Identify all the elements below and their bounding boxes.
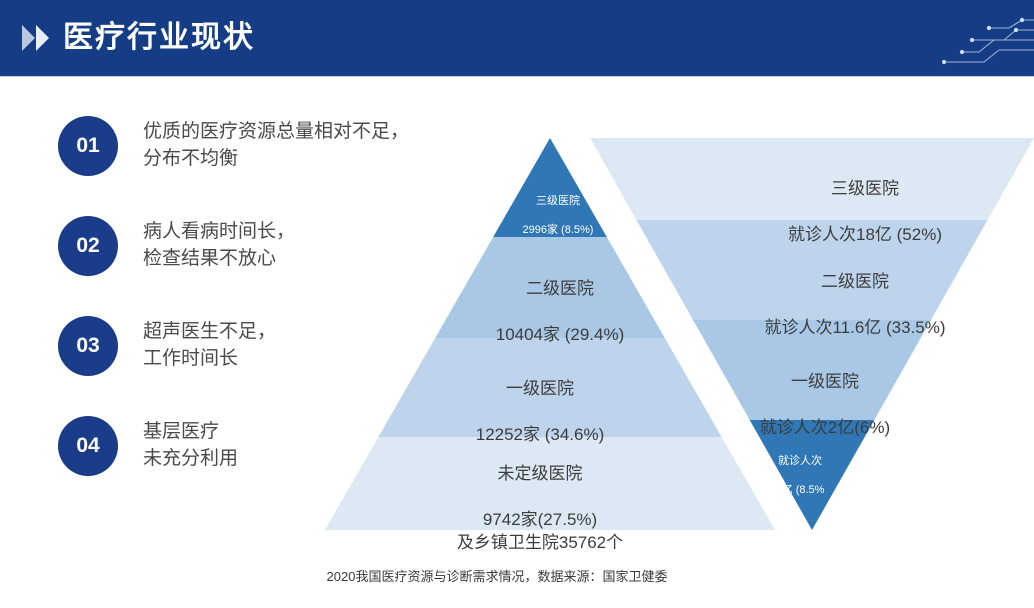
point-badge: 04	[58, 416, 118, 476]
point-badge: 03	[58, 316, 118, 376]
double-chevron-right-icon	[22, 25, 49, 51]
point-text: 超声医生不足， 工作时间长	[143, 319, 276, 373]
circuit-lines-icon	[884, 0, 1034, 76]
band-r1	[300, 220, 1034, 320]
page-title: 医疗行业现状	[63, 23, 255, 53]
pyramid-chart: 三级医院 2996家 (8.5%) 二级医院 10404家 (29.4%) 一级…	[300, 120, 1034, 550]
band-r0	[300, 120, 1034, 220]
band-l3	[300, 437, 1034, 532]
pyramid-svg	[300, 120, 1034, 550]
header-title-group: 医疗行业现状	[22, 0, 255, 76]
point-text: 病人看病时间长， 检查结果不放心	[143, 219, 295, 273]
header-divider	[0, 76, 1034, 77]
point-text: 基层医疗 未充分利用	[143, 419, 238, 473]
point-badge: 02	[58, 216, 118, 276]
source-caption: 2020我国医疗资源与诊断需求情况，数据来源：国家卫健委	[0, 566, 1034, 585]
page-header: 医疗行业现状	[0, 0, 1034, 76]
point-badge: 01	[58, 116, 118, 176]
band-l2	[300, 338, 1034, 437]
